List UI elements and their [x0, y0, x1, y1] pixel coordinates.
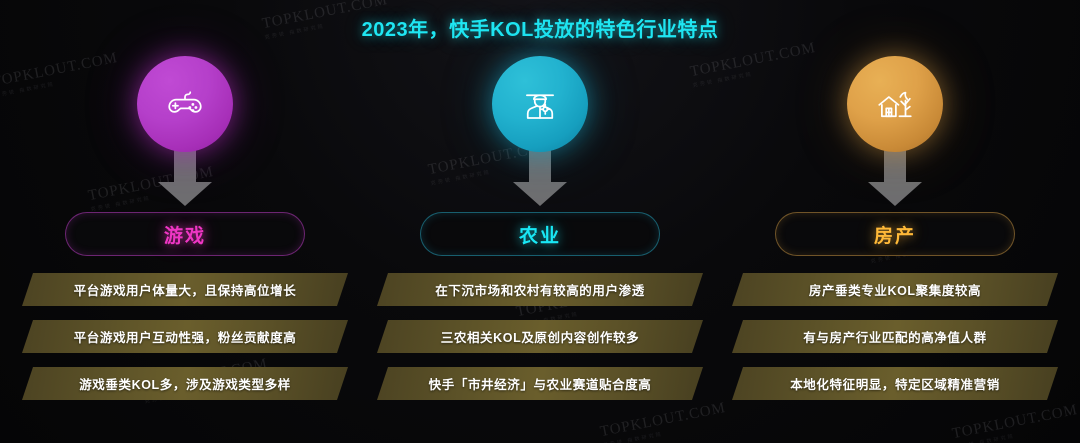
- gamepad-icon: [164, 83, 206, 125]
- bullet-list-realestate: 房产垂类专业KOL聚集度较高 有与房产行业匹配的高净值人群 本地化特征明显，特定…: [732, 273, 1058, 400]
- icon-badge-agriculture: [492, 56, 588, 152]
- bullet-bar: 平台游戏用户体量大，且保持高位增长: [22, 273, 348, 306]
- industry-label-game: 游戏: [164, 221, 206, 248]
- bullet-text: 平台游戏用户体量大，且保持高位增长: [74, 280, 297, 299]
- bullet-text: 在下沉市场和农村有较高的用户渗透: [435, 280, 645, 299]
- industry-column-game: 游戏 平台游戏用户体量大，且保持高位增长 平台游戏用户互动性强，粉丝贡献度高 游…: [22, 56, 348, 426]
- industry-columns: 游戏 平台游戏用户体量大，且保持高位增长 平台游戏用户互动性强，粉丝贡献度高 游…: [0, 56, 1080, 426]
- bullet-text: 游戏垂类KOL多，涉及游戏类型多样: [79, 374, 291, 393]
- arrow-down-icon: [511, 144, 569, 206]
- bullet-bar: 本地化特征明显，特定区域精准营销: [732, 367, 1058, 400]
- bullet-text: 有与房产行业匹配的高净值人群: [803, 327, 986, 346]
- bullet-bar: 有与房产行业匹配的高净值人群: [732, 320, 1058, 353]
- arrow-down-icon: [156, 144, 214, 206]
- icon-badge-realestate: [847, 56, 943, 152]
- slide-canvas: TOPKLOUT.COM 克劳锐 指数研究院 TOPKLOUT.COM 克劳锐 …: [0, 0, 1080, 443]
- icon-badge-game: [137, 56, 233, 152]
- bullet-bar: 房产垂类专业KOL聚集度较高: [732, 273, 1058, 306]
- industry-column-realestate: 房产 房产垂类专业KOL聚集度较高 有与房产行业匹配的高净值人群 本地化特征明显…: [732, 56, 1058, 426]
- bullet-text: 本地化特征明显，特定区域精准营销: [790, 374, 1000, 393]
- bullet-text: 三农相关KOL及原创内容创作较多: [441, 327, 640, 346]
- arrow-down-glyph: [156, 144, 214, 206]
- page-title: 2023年，快手KOL投放的特色行业特点: [0, 13, 1080, 42]
- industry-pill-agriculture[interactable]: 农业: [420, 212, 660, 256]
- industry-label-agriculture: 农业: [519, 221, 561, 248]
- bullet-bar: 平台游戏用户互动性强，粉丝贡献度高: [22, 320, 348, 353]
- farmer-icon: [519, 83, 561, 125]
- circle-game: [137, 56, 233, 152]
- industry-column-agriculture: 农业 在下沉市场和农村有较高的用户渗透 三农相关KOL及原创内容创作较多 快手「…: [377, 56, 703, 426]
- industry-label-realestate: 房产: [874, 221, 916, 248]
- industry-pill-realestate[interactable]: 房产: [775, 212, 1015, 256]
- arrow-down-icon: [866, 144, 924, 206]
- arrow-down-glyph: [511, 144, 569, 206]
- circle-agriculture: [492, 56, 588, 152]
- industry-pill-game[interactable]: 游戏: [65, 212, 305, 256]
- bullet-bar: 在下沉市场和农村有较高的用户渗透: [377, 273, 703, 306]
- house-tree-icon: [874, 83, 916, 125]
- bullet-text: 快手「市井经济」与农业赛道贴合度高: [429, 374, 652, 393]
- bullet-list-agriculture: 在下沉市场和农村有较高的用户渗透 三农相关KOL及原创内容创作较多 快手「市井经…: [377, 273, 703, 400]
- bullet-list-game: 平台游戏用户体量大，且保持高位增长 平台游戏用户互动性强，粉丝贡献度高 游戏垂类…: [22, 273, 348, 400]
- bullet-bar: 三农相关KOL及原创内容创作较多: [377, 320, 703, 353]
- circle-realestate: [847, 56, 943, 152]
- bullet-bar: 游戏垂类KOL多，涉及游戏类型多样: [22, 367, 348, 400]
- bullet-bar: 快手「市井经济」与农业赛道贴合度高: [377, 367, 703, 400]
- bullet-text: 房产垂类专业KOL聚集度较高: [809, 280, 981, 299]
- arrow-down-glyph: [866, 144, 924, 206]
- bullet-text: 平台游戏用户互动性强，粉丝贡献度高: [74, 327, 297, 346]
